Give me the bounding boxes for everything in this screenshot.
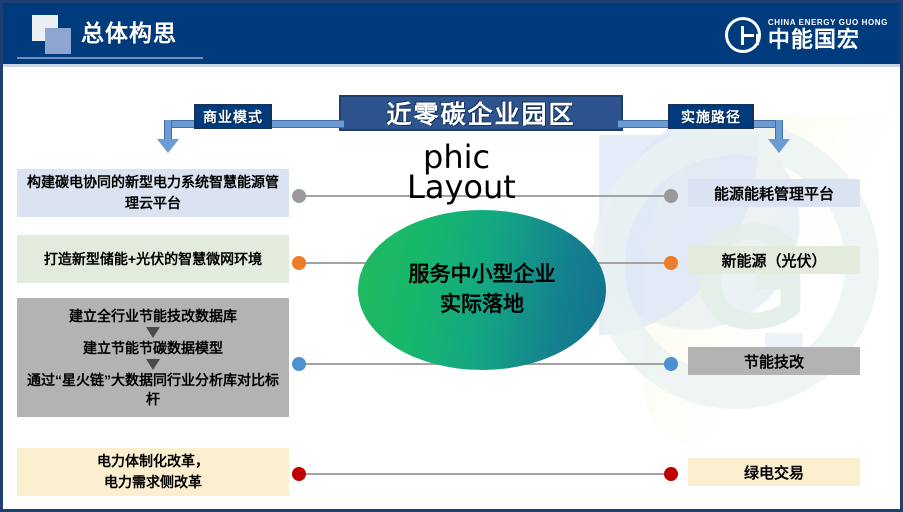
watermark-swoosh-cream (643, 115, 893, 445)
right-elbow-arrowhead-icon (768, 139, 790, 153)
tag-implementation-path[interactable]: 实施路径 (668, 104, 754, 129)
logo-circle-icon (725, 17, 761, 53)
main-title-banner: 近零碳企业园区 (339, 95, 623, 131)
watermark-letter: G (693, 201, 810, 351)
left-box-4-line-2: 电力需求侧改革 (104, 472, 202, 493)
center-ellipse-line2: 实际落地 (440, 290, 524, 320)
right-box-2-label: 新能源（光伏） (721, 250, 826, 271)
left-elbow-arrowhead-icon (157, 139, 179, 153)
left-box-3-line-2: 建立节能节碳数据模型 (83, 339, 223, 358)
left-box-1-label: 构建碳电协同的新型电力系统智慧能源管理云平台 (25, 172, 281, 214)
node-dot-right-3 (664, 357, 678, 371)
tag-business-model[interactable]: 商业模式 (194, 104, 272, 129)
right-box-1[interactable]: 能源能耗管理平台 (688, 179, 860, 207)
right-box-3[interactable]: 节能技改 (688, 347, 860, 375)
node-dot-left-3 (292, 357, 306, 371)
slide-canvas: G 总体构思 CHINA ENERGY GUO HONG 中能国宏 服务中小型企… (0, 0, 903, 512)
left-box-3-line-1: 建立全行业节能技改数据库 (69, 307, 237, 326)
right-box-3-label: 节能技改 (744, 351, 804, 372)
left-box-3-line-3: 通过“星火链”大数据同行业分析库对比标杆 (23, 371, 283, 409)
node-dot-right-4 (664, 467, 678, 481)
node-dot-left-4 (292, 467, 306, 481)
left-box-2[interactable]: 打造新型储能+光伏的智慧微网环境 (17, 235, 289, 283)
node-dot-right-1 (664, 189, 678, 203)
left-box-2-label: 打造新型储能+光伏的智慧微网环境 (44, 249, 262, 270)
right-box-2[interactable]: 新能源（光伏） (688, 246, 860, 274)
left-box-4-line-1: 电力体制化改革， (97, 451, 209, 472)
node-dot-right-2 (664, 256, 678, 270)
right-box-4[interactable]: 绿电交易 (688, 458, 860, 486)
right-elbow-vertical (775, 120, 783, 140)
header-square-blue-icon (45, 28, 71, 54)
artifact-text-layout: Layout (407, 168, 516, 206)
watermark-arc-blue (599, 135, 759, 335)
header-underline (17, 57, 203, 59)
left-box-3[interactable]: 建立全行业节能技改数据库 建立节能节碳数据模型 通过“星火链”大数据同行业分析库… (17, 298, 289, 417)
logo-english-name: CHINA ENERGY GUO HONG (768, 18, 888, 27)
down-arrow-icon-1 (146, 327, 160, 338)
down-arrow-icon-2 (146, 359, 160, 370)
company-logo: CHINA ENERGY GUO HONG 中能国宏 (725, 13, 888, 57)
center-ellipse: 服务中小型企业 实际落地 (358, 210, 606, 370)
right-box-1-label: 能源能耗管理平台 (714, 183, 834, 204)
logo-text: CHINA ENERGY GUO HONG 中能国宏 (768, 18, 888, 52)
node-dot-left-1 (292, 189, 306, 203)
left-box-4[interactable]: 电力体制化改革， 电力需求侧改革 (17, 448, 289, 496)
node-dot-left-2 (292, 256, 306, 270)
main-title-text: 近零碳企业园区 (386, 95, 575, 131)
tag-business-model-label: 商业模式 (203, 107, 263, 127)
tag-implementation-path-label: 实施路径 (681, 107, 741, 127)
center-ellipse-line1: 服务中小型企业 (409, 260, 556, 290)
left-elbow-vertical (164, 120, 172, 140)
logo-chinese-name: 中能国宏 (768, 28, 888, 52)
spoke-line-row4 (299, 473, 671, 475)
right-box-4-label: 绿电交易 (744, 462, 804, 483)
slide-header: 总体构思 CHINA ENERGY GUO HONG 中能国宏 (3, 3, 903, 67)
page-title: 总体构思 (81, 17, 177, 49)
left-box-1[interactable]: 构建碳电协同的新型电力系统智慧能源管理云平台 (17, 169, 289, 217)
